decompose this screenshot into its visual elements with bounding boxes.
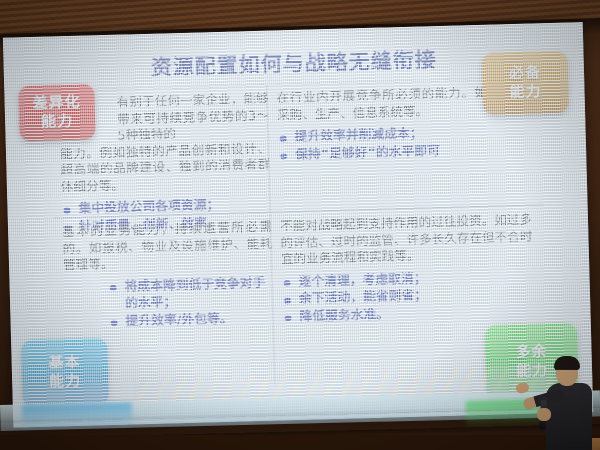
br-paragraph: 不能对战略起到支持作用的过往投资。如过多的评估、过时的监管、许多长久存在但不合时…: [280, 212, 533, 268]
tr-bullet-list: 提升效率并削减成本； 保持“足够好”的水平即可: [277, 123, 528, 165]
photo-stage: 资源配置如何与战略无缝衔接 有别于任何一家企业，能够带来可持续竞争优势的3～5种…: [0, 0, 600, 450]
presenter-hair: [554, 356, 580, 370]
badge-basic-line1: 基本: [48, 353, 81, 373]
presenter-pointing-hand: [515, 382, 530, 395]
badge-differentiating-capability: 差异化 能力: [18, 83, 95, 141]
bl-paragraph: 基本的业务能力，持续运营所必需的。如报税、物业及设施维护、能耗管理等。: [62, 219, 273, 274]
badge-differentiating-line2: 能力: [41, 112, 74, 132]
badge-essential-line2: 能力: [509, 82, 542, 102]
bl-bullet-1: 将成本降到低于竞争对手的水平；: [107, 274, 274, 313]
tl-paragraph-lead: 有别于任何一家企业，能够带来可持续竞争优势的3～5种独特的: [116, 91, 269, 145]
badge-essential-line1: 必备: [509, 63, 542, 83]
floor-shadow: [0, 435, 600, 450]
quadrant-bottom-right: 不能对战略起到支持作用的过往投资。如过多的评估、过时的监管、许多长久存在但不合时…: [280, 212, 535, 327]
led-screen: 资源配置如何与战略无缝衔接 有别于任何一家企业，能够带来可持续竞争优势的3～5种…: [3, 22, 593, 428]
glasses-icon: [555, 369, 575, 375]
presenter: [528, 352, 600, 450]
bl-bullet-list: 将成本降到低于竞争对手的水平； 提升效率/外包等。: [107, 274, 274, 331]
br-bullet-list: 逐个清理，考虑取消； 余下活动，能省则省； 降低服务水准。: [281, 267, 534, 326]
badge-differentiating-line1: 差异化: [32, 93, 81, 113]
presenter-mic-hand: [537, 408, 551, 421]
slide: 资源配置如何与战略无缝衔接 有别于任何一家企业，能够带来可持续竞争优势的3～5种…: [3, 22, 593, 428]
badge-essential-capability: 必备 能力: [481, 51, 569, 115]
led-screen-wrapper: 资源配置如何与战略无缝衔接 有别于任何一家企业，能够带来可持续竞争优势的3～5种…: [0, 10, 599, 436]
quadrant-bottom-left: 基本的业务能力，持续运营所必需的。如报税、物业及设施维护、能耗管理等。 将成本降…: [62, 219, 275, 333]
tl-paragraph-rest: 能力。例如独特的产品创新和设计、超高端的品牌建设、独到的消费者群体细分等。: [60, 140, 271, 195]
